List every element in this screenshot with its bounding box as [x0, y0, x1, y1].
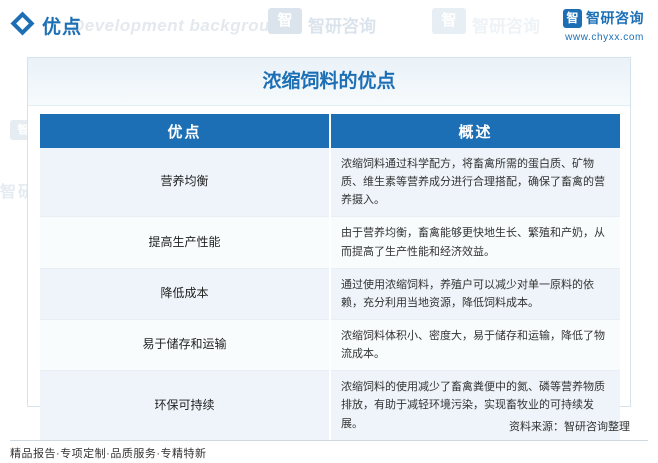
brand-block[interactable]: 智 智研咨询 www.chyxx.com: [563, 8, 644, 43]
row-point: 营养均衡: [40, 148, 330, 217]
table-row: 提高生产性能 由于营养均衡，畜禽能够更快地生长、繁殖和产奶，从而提高了生产性能和…: [40, 217, 620, 268]
row-desc: 通过使用浓缩饲料，养殖户可以减少对单一原料的依赖，充分利用当地资源，降低饲料成本…: [330, 268, 620, 319]
footer-tagline: 精品报告·专项定制·品质服务·专精特新: [10, 445, 207, 461]
brand-logo-icon: 智: [563, 9, 582, 28]
table-row: 营养均衡 浓缩饲料通过科学配方，将畜禽所需的蛋白质、矿物质、维生素等营养成分进行…: [40, 148, 620, 217]
source-note: 资料来源：智研咨询整理: [509, 418, 630, 434]
advantages-table: 优点 概述 营养均衡 浓缩饲料通过科学配方，将畜禽所需的蛋白质、矿物质、维生素等…: [40, 114, 620, 441]
column-header-point: 优点: [40, 114, 330, 148]
footer-divider: [10, 440, 648, 441]
diamond-bullet-icon: [10, 11, 34, 35]
brand-name: 智研咨询: [586, 8, 644, 28]
row-point: 降低成本: [40, 268, 330, 319]
row-desc: 浓缩饲料通过科学配方，将畜禽所需的蛋白质、矿物质、维生素等营养成分进行合理搭配，…: [330, 148, 620, 217]
header-subtitle: Development background: [72, 16, 292, 36]
content-card: 浓缩饲料的优点 优点 概述 营养均衡 浓缩饲料通过科学配方，将畜禽所需的蛋白质、…: [27, 57, 631, 407]
row-point: 提高生产性能: [40, 217, 330, 268]
column-header-desc: 概述: [330, 114, 620, 148]
watermark-badge-icon-2: 智: [432, 8, 466, 34]
page-title: 优点: [42, 12, 82, 39]
card-title: 浓缩饲料的优点: [28, 58, 630, 106]
table-row: 降低成本 通过使用浓缩饲料，养殖户可以减少对单一原料的依赖，充分利用当地资源，降…: [40, 268, 620, 319]
header-watermark-text-2: 智研咨询: [472, 12, 540, 37]
table-header-row: 优点 概述: [40, 114, 620, 148]
watermark-badge-icon: 智: [268, 8, 302, 34]
table-body: 营养均衡 浓缩饲料通过科学配方，将畜禽所需的蛋白质、矿物质、维生素等营养成分进行…: [40, 148, 620, 440]
page-header: Development background 优点 智 智研咨询 智 智研咨询 …: [0, 0, 658, 50]
row-desc: 浓缩饲料体积小、密度大，易于储存和运输，降低了物流成本。: [330, 319, 620, 370]
row-point: 环保可持续: [40, 371, 330, 440]
brand-url[interactable]: www.chyxx.com: [563, 32, 644, 43]
header-watermark-text: 智研咨询: [308, 12, 376, 37]
row-desc: 由于营养均衡，畜禽能够更快地生长、繁殖和产奶，从而提高了生产性能和经济效益。: [330, 217, 620, 268]
table-row: 易于储存和运输 浓缩饲料体积小、密度大，易于储存和运输，降低了物流成本。: [40, 319, 620, 370]
row-point: 易于储存和运输: [40, 319, 330, 370]
table-head: 优点 概述: [40, 114, 620, 148]
